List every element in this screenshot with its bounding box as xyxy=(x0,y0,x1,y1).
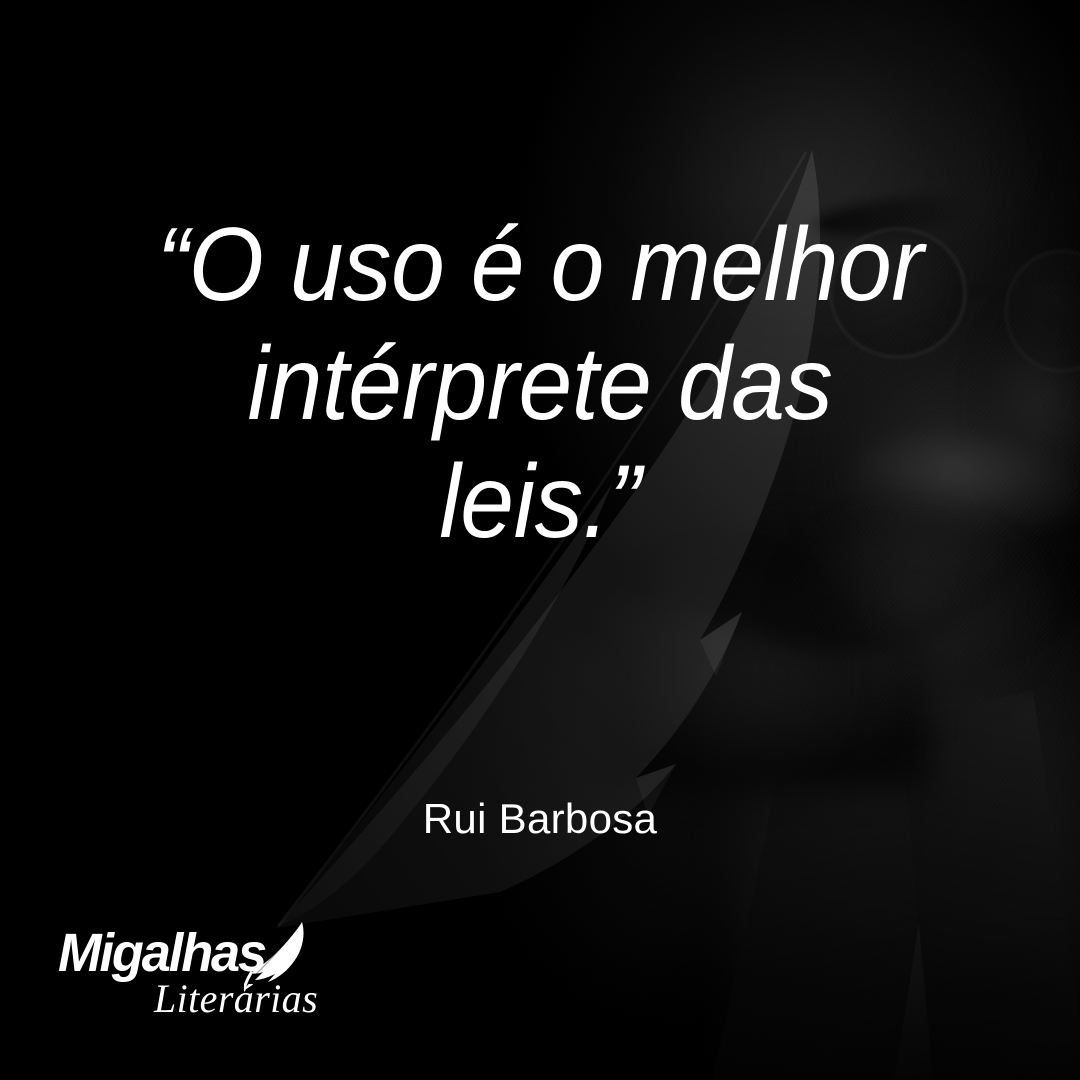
quote-text: “O uso é o melhor intérprete das leis.” xyxy=(127,206,953,562)
quote-block: “O uso é o melhor intérprete das leis.” xyxy=(0,206,1080,562)
brand-logo-row: Migalhas xyxy=(58,922,358,984)
brand-subtitle: Literárias xyxy=(154,976,318,1022)
brand-logo[interactable]: Migalhas Literárias xyxy=(58,922,358,1032)
author-name: Rui Barbosa xyxy=(0,795,1080,843)
quote-card: “O uso é o melhor intérprete das leis.” … xyxy=(0,0,1080,1080)
brand-wordmark: Migalhas xyxy=(58,922,265,984)
